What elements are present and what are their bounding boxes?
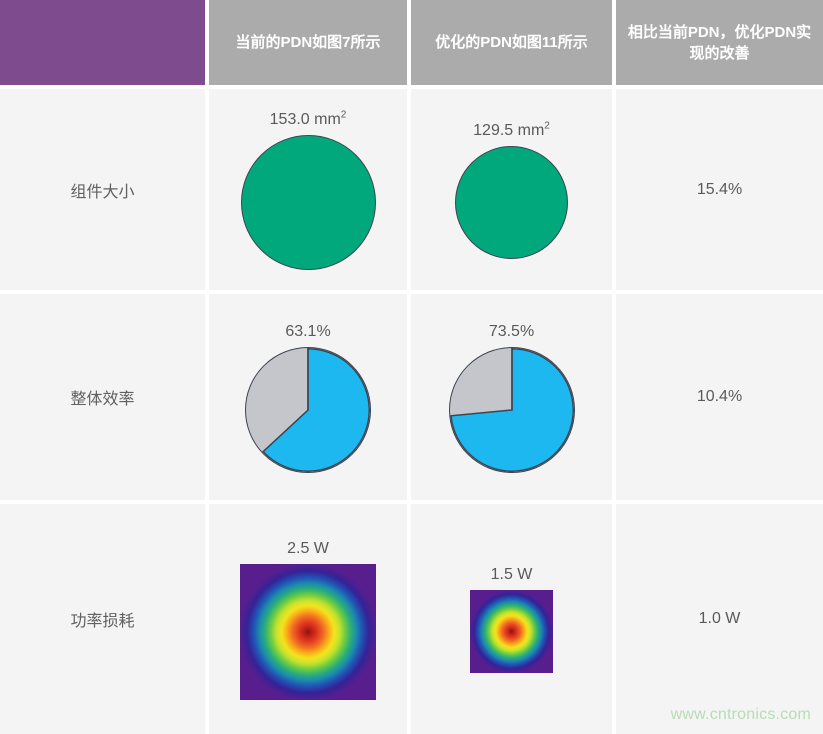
caption-value: 73.5% <box>489 323 534 340</box>
caption-value: 63.1% <box>285 323 330 340</box>
cell-overall-efficiency-optimized: 73.5% <box>411 294 612 500</box>
area-disc-optimized <box>455 146 568 259</box>
caption-overall-efficiency-optimized: 73.5% <box>489 322 534 341</box>
cell-power-loss-current: 2.5 W <box>209 504 407 734</box>
pdn-comparison-table: 当前的PDN如图7所示 优化的PDN如图11所示 相比当前PDN，优化PDN实现… <box>0 0 823 734</box>
pie-svg <box>450 348 574 472</box>
caption-power-loss-optimized: 1.5 W <box>491 565 533 584</box>
row-label-overall-efficiency: 整体效率 <box>0 294 205 500</box>
caption-value: 2.5 W <box>287 540 329 557</box>
improvement-value-component-size: 15.4% <box>616 89 823 290</box>
pie-slices <box>246 348 370 472</box>
area-disc-current <box>241 135 376 270</box>
caption-value: 129.5 mm <box>473 122 544 139</box>
caption-component-size-optimized: 129.5 mm2 <box>473 121 550 140</box>
site-watermark: www.cntronics.com <box>671 706 811 724</box>
table-header-optimized-pdn: 优化的PDN如图11所示 <box>411 0 612 85</box>
caption-component-size-current: 153.0 mm2 <box>270 110 347 129</box>
caption-superscript: 2 <box>341 109 347 120</box>
improvement-value-power-loss: 1.0 W <box>616 504 823 734</box>
pie-svg <box>246 348 370 472</box>
row-label-power-loss: 功率损耗 <box>0 504 205 734</box>
cell-component-size-current: 153.0 mm2 <box>209 89 407 290</box>
caption-superscript: 2 <box>544 120 550 131</box>
improvement-value-overall-efficiency: 10.4% <box>616 294 823 500</box>
cell-overall-efficiency-current: 63.1% <box>209 294 407 500</box>
caption-power-loss-current: 2.5 W <box>287 539 329 558</box>
power-heatmap-current <box>240 564 376 700</box>
caption-value: 1.5 W <box>491 566 533 583</box>
caption-value: 153.0 mm <box>270 111 341 128</box>
cell-component-size-optimized: 129.5 mm2 <box>411 89 612 290</box>
efficiency-pie-current <box>245 347 371 473</box>
table-header-current-pdn: 当前的PDN如图7所示 <box>209 0 407 85</box>
caption-overall-efficiency-current: 63.1% <box>285 322 330 341</box>
table-header-corner <box>0 0 205 85</box>
pie-slices <box>450 348 574 472</box>
efficiency-pie-optimized <box>449 347 575 473</box>
table-header-improvement: 相比当前PDN，优化PDN实现的改善 <box>616 0 823 85</box>
power-heatmap-optimized <box>470 590 553 673</box>
row-label-component-size: 组件大小 <box>0 89 205 290</box>
cell-power-loss-optimized: 1.5 W <box>411 504 612 734</box>
pie-slice-efficiency <box>263 348 369 471</box>
